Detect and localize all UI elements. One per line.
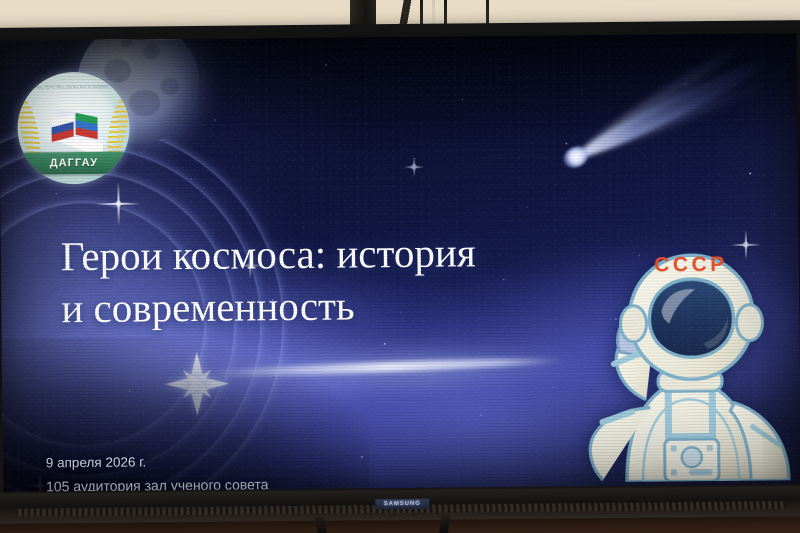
slide-meta: 9 апреля 2026 г. 105 аудитория зал учено… <box>46 448 466 491</box>
logo-banner-text: ДАГГАУ <box>50 157 99 169</box>
logo-banner: ДАГГАУ <box>22 151 125 174</box>
slide-title-line-2: и современность <box>61 278 601 336</box>
slide-title-line-1: Герои космоса: история <box>61 225 601 283</box>
logo-arc-text: МИНИСТЕРСТВО СЕЛЬСКОГО ХОЗЯЙСТВА <box>17 84 129 90</box>
university-logo: МИНИСТЕРСТВО СЕЛЬСКОГО ХОЗЯЙСТВА ДАГГАУ <box>17 72 130 185</box>
television: МИНИСТЕРСТВО СЕЛЬСКОГО ХОЗЯЙСТВА ДАГГАУ … <box>0 20 800 524</box>
tv-brand-logo: SAMSUNG <box>375 499 429 510</box>
tv-screen: МИНИСТЕРСТВО СЕЛЬСКОГО ХОЗЯЙСТВА ДАГГАУ … <box>0 33 800 492</box>
screenshot-root: МИНИСТЕРСТВО СЕЛЬСКОГО ХОЗЯЙСТВА ДАГГАУ … <box>0 0 800 533</box>
helmet-cccp-text: СССР <box>654 253 728 277</box>
dagestan-flag-icon <box>76 112 99 139</box>
logo-disc: МИНИСТЕРСТВО СЕЛЬСКОГО ХОЗЯЙСТВА ДАГГАУ <box>17 72 130 185</box>
cosmonaut-illustration: СССР <box>583 230 795 482</box>
slide-title: Герои космоса: история и современность <box>61 225 602 335</box>
